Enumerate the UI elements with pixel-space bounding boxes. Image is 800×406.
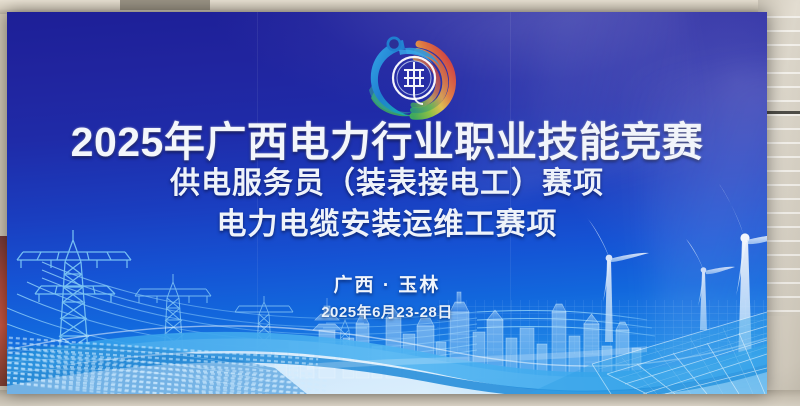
banner-subtitle-1: 供电服务员（装表接电工）赛项 xyxy=(7,164,767,203)
event-backdrop-banner: 2025年广西电力行业职业技能竞赛 供电服务员（装表接电工）赛项 电力电缆安装运… xyxy=(7,12,767,394)
ceiling-shadow xyxy=(120,0,210,10)
wave-ribbon xyxy=(7,326,767,394)
solar-panel-array-left xyxy=(7,335,328,394)
emblem-svg xyxy=(359,28,463,124)
transmission-tower-distant xyxy=(323,320,367,364)
banner-subtitle-2: 电力电缆安装运维工赛项 xyxy=(7,205,767,244)
solar-panel-array-right xyxy=(527,312,767,394)
power-industry-emblem-logo xyxy=(359,28,463,124)
banner-location: 广西 · 玉林 xyxy=(7,270,767,297)
window-right xyxy=(764,16,800,316)
banner-main-title: 2025年广西电力行业职业技能竞赛 xyxy=(7,120,767,164)
banner-text-block: 2025年广西电力行业职业技能竞赛 供电服务员（装表接电工）赛项 电力电缆安装运… xyxy=(7,120,767,244)
banner-place-block: 广西 · 玉林 2025年6月23-28日 xyxy=(7,270,767,322)
banner-photograph: 2025年广西电力行业职业技能竞赛 供电服务员（装表接电工）赛项 电力电缆安装运… xyxy=(0,0,800,406)
banner-date: 2025年6月23-28日 xyxy=(7,301,767,322)
